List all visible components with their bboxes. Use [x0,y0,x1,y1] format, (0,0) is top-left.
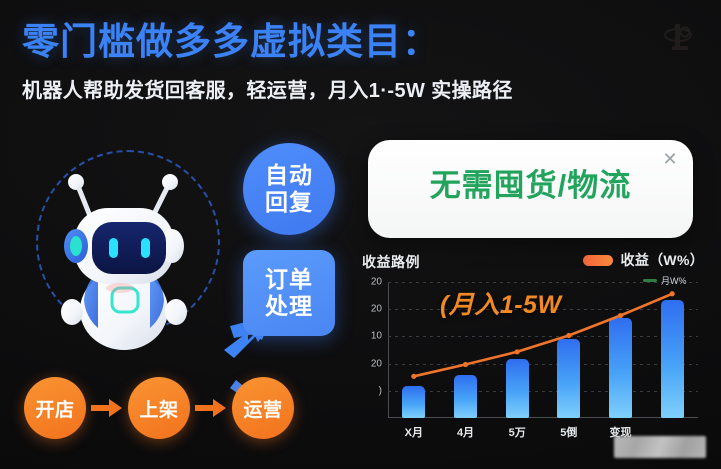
process-steps: 开店 上架 运营 [24,377,354,439]
x-axis-tick: 5万 [497,424,537,440]
trend-point [566,333,571,338]
y-axis-tick: 20 [371,304,382,315]
step-arrow-icon-1 [86,377,128,439]
page-title: 零门槛做多多虚拟类目： [22,18,642,66]
trend-point [670,291,675,296]
page-subtitle: 机器人帮助发货回客服，轻运营，月入1·-5W 实操路径 [22,77,662,105]
x-axis-tick: 4月 [446,424,486,440]
chart-overlay-cta: (月入1-5W [440,290,562,320]
chart-plot-area: 20201020) 月W% (月入1-5W [388,282,698,418]
step-operations[interactable]: 运营 [232,377,294,439]
callout-order-line1: 订单 [265,266,313,293]
chart-annotation-month: 月W% [643,274,687,287]
y-axis-tick: 20 [371,277,382,288]
step-listing[interactable]: 上架 [128,377,190,439]
app-watermark-logo [660,18,700,58]
y-axis-ticks: 20201020) [358,282,386,418]
chart-legend: 收益（W%） [583,250,704,270]
callout-auto-reply[interactable]: 自动 回复 [243,143,335,235]
poster-canvas: 零门槛做多多虚拟类目： 机器人帮助发货回客服，轻运营，月入1·-5W 实操路径 [0,0,721,469]
robot-mascot [50,160,200,355]
trend-point [463,362,468,367]
y-axis-tick: 10 [371,331,382,342]
chart-title: 收益路例 [362,252,420,272]
trend-point [515,349,520,354]
annotation-dash-icon [643,279,657,282]
y-axis-tick: ) [379,385,382,396]
annotation-text: 月W% [661,274,687,287]
blurred-redaction-block [614,436,706,458]
callout-auto-line1: 自动 [265,162,313,189]
step-open-shop[interactable]: 开店 [24,377,86,439]
notice-card: ✕ 无需囤货/物流 [368,140,693,238]
x-axis-tick: X月 [394,424,434,440]
y-axis-tick: 20 [371,358,382,369]
trend-point [618,313,623,318]
legend-label: 收益（W%） [621,250,704,270]
callout-order-processing[interactable]: 订单 处理 [243,250,335,336]
x-axis-tick: 5倒 [549,424,589,440]
notice-text: 无需囤货/物流 [368,166,693,206]
trend-point [411,374,416,379]
callout-auto-line2: 回复 [265,189,313,216]
callout-order-line2: 处理 [265,293,313,320]
revenue-chart-panel: 收益路例 收益（W%） 20201020) 月W% (月入1-5W X月4月5万… [358,248,708,454]
legend-swatch-icon [583,255,613,266]
step-arrow-icon-2 [190,377,232,439]
robot-illustration [26,140,226,365]
